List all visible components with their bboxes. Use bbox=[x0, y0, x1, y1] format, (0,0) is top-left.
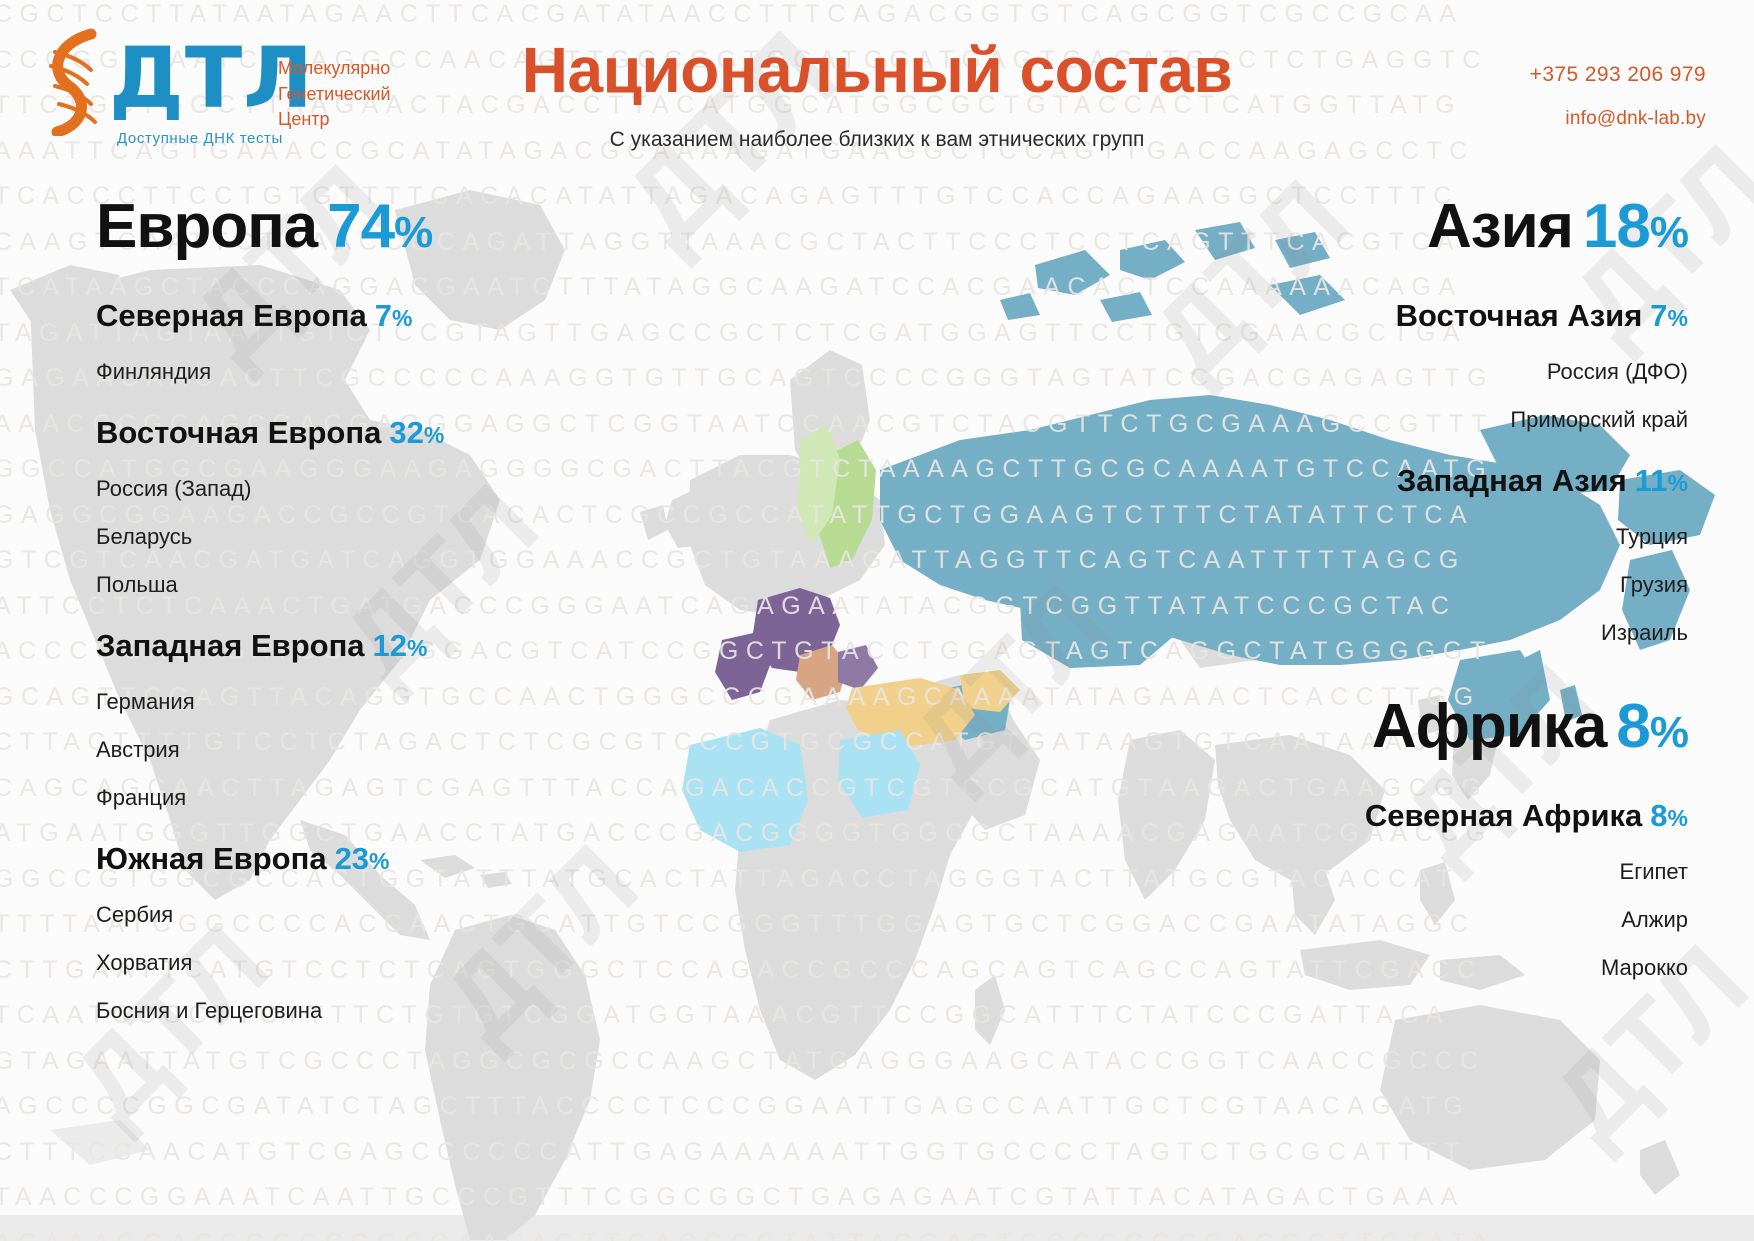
page-header: ДТЛ Доступные ДНК тесты Молекулярно Гене… bbox=[0, 0, 1754, 168]
region-name: Южная Европа bbox=[96, 841, 327, 876]
spacer bbox=[96, 331, 656, 361]
region-heading: Южная Европа23% bbox=[96, 843, 656, 874]
spacer bbox=[96, 448, 656, 478]
region-name: Северная Африка bbox=[1365, 798, 1642, 833]
region-heading: Восточная Азия7% bbox=[1128, 300, 1688, 331]
region-percent: 32% bbox=[389, 415, 444, 450]
country-item: Беларусь bbox=[96, 526, 656, 548]
spacer bbox=[1128, 596, 1688, 622]
percent-symbol: % bbox=[1668, 470, 1688, 496]
infographic-page: CGCTCCTTATAATAGAACTTCACGATATAACCTTTCAGAC… bbox=[0, 0, 1754, 1241]
region-heading: Западная Европа12% bbox=[96, 630, 656, 661]
country-item: Израиль bbox=[1128, 622, 1688, 644]
region-percent: 23% bbox=[335, 841, 390, 876]
percent-symbol: % bbox=[424, 422, 444, 448]
spacer bbox=[96, 974, 656, 1000]
spacer bbox=[96, 713, 656, 739]
country-item: Франция bbox=[96, 787, 656, 809]
continent-name: Европа bbox=[96, 192, 317, 261]
contact-email[interactable]: info@dnk-lab.by bbox=[1530, 104, 1706, 134]
spacer bbox=[96, 383, 656, 417]
spacer bbox=[96, 926, 656, 952]
country-item: Грузия bbox=[1128, 574, 1688, 596]
percent-symbol: % bbox=[392, 305, 412, 331]
percent-symbol: % bbox=[394, 208, 432, 257]
spacer bbox=[96, 500, 656, 526]
spacer bbox=[1128, 383, 1688, 409]
country-item: Алжир bbox=[1128, 909, 1688, 931]
country-item: Египет bbox=[1128, 861, 1688, 883]
spacer bbox=[96, 661, 656, 691]
region-name: Северная Европа bbox=[96, 298, 367, 333]
continent-name: Африка bbox=[1372, 692, 1607, 761]
region-percent: 7% bbox=[375, 298, 413, 333]
spacer bbox=[1128, 758, 1688, 800]
country-item: Босния и Герцеговина bbox=[96, 1000, 656, 1022]
region-percent: 12% bbox=[373, 628, 428, 663]
country-item: Турция bbox=[1128, 526, 1688, 548]
region-name: Восточная Европа bbox=[96, 415, 381, 450]
percent-symbol: % bbox=[1668, 805, 1688, 831]
spacer bbox=[1128, 931, 1688, 957]
country-item: Приморский край bbox=[1128, 409, 1688, 431]
region-name: Восточная Азия bbox=[1396, 298, 1643, 333]
percent-symbol: % bbox=[1650, 208, 1688, 257]
europe-column: Европа74%Северная Европа7%ФинляндияВосто… bbox=[96, 196, 656, 1022]
spacer bbox=[96, 596, 656, 630]
country-item: Россия (Запад) bbox=[96, 478, 656, 500]
contact-phone[interactable]: +375 293 206 979 bbox=[1530, 60, 1706, 90]
continent-percent: 74% bbox=[327, 192, 432, 261]
percent-symbol: % bbox=[407, 635, 427, 661]
country-item: Австрия bbox=[96, 739, 656, 761]
region-percent: 11% bbox=[1635, 463, 1688, 498]
spacer bbox=[1128, 496, 1688, 526]
spacer bbox=[1128, 331, 1688, 361]
country-item: Германия bbox=[96, 691, 656, 713]
spacer bbox=[1128, 258, 1688, 300]
spacer bbox=[96, 761, 656, 787]
country-item: Хорватия bbox=[96, 952, 656, 974]
region-heading: Западная Азия11% bbox=[1128, 465, 1688, 496]
continent-heading: Европа74% bbox=[96, 196, 656, 258]
country-item: Польша bbox=[96, 574, 656, 596]
continent-name: Азия bbox=[1427, 192, 1573, 261]
country-item: Финляндия bbox=[96, 361, 656, 383]
percent-symbol: % bbox=[1650, 708, 1688, 757]
region-name: Западная Азия bbox=[1397, 463, 1627, 498]
region-heading: Северная Европа7% bbox=[96, 300, 656, 331]
spacer bbox=[1128, 548, 1688, 574]
page-title: Национальный состав bbox=[0, 36, 1754, 104]
spacer bbox=[1128, 883, 1688, 909]
contact-block: +375 293 206 979 info@dnk-lab.by bbox=[1530, 60, 1706, 134]
spacer bbox=[1128, 644, 1688, 696]
country-item: Сербия bbox=[96, 904, 656, 926]
continent-heading: Африка8% bbox=[1128, 696, 1688, 758]
asia-africa-column: Азия18%Восточная Азия7%Россия (ДФО)Примо… bbox=[1128, 196, 1688, 979]
country-item: Россия (ДФО) bbox=[1128, 361, 1688, 383]
spacer bbox=[96, 874, 656, 904]
spacer bbox=[96, 548, 656, 574]
spacer bbox=[96, 809, 656, 843]
percent-symbol: % bbox=[1668, 305, 1688, 331]
continent-percent: 18% bbox=[1583, 192, 1688, 261]
page-subtitle: С указанием наиболее близких к вам этнич… bbox=[0, 128, 1754, 152]
region-heading: Северная Африка8% bbox=[1128, 800, 1688, 831]
percent-symbol: % bbox=[369, 848, 389, 874]
spacer bbox=[96, 258, 656, 300]
spacer bbox=[1128, 431, 1688, 465]
country-item: Марокко bbox=[1128, 957, 1688, 979]
continent-percent: 8% bbox=[1616, 692, 1688, 761]
region-name: Западная Европа bbox=[96, 628, 365, 663]
spacer bbox=[1128, 831, 1688, 861]
region-percent: 8% bbox=[1650, 798, 1688, 833]
region-heading: Восточная Европа32% bbox=[96, 417, 656, 448]
map-region-balkans-dark bbox=[838, 645, 878, 690]
region-percent: 7% bbox=[1650, 298, 1688, 333]
continent-heading: Азия18% bbox=[1128, 196, 1688, 258]
